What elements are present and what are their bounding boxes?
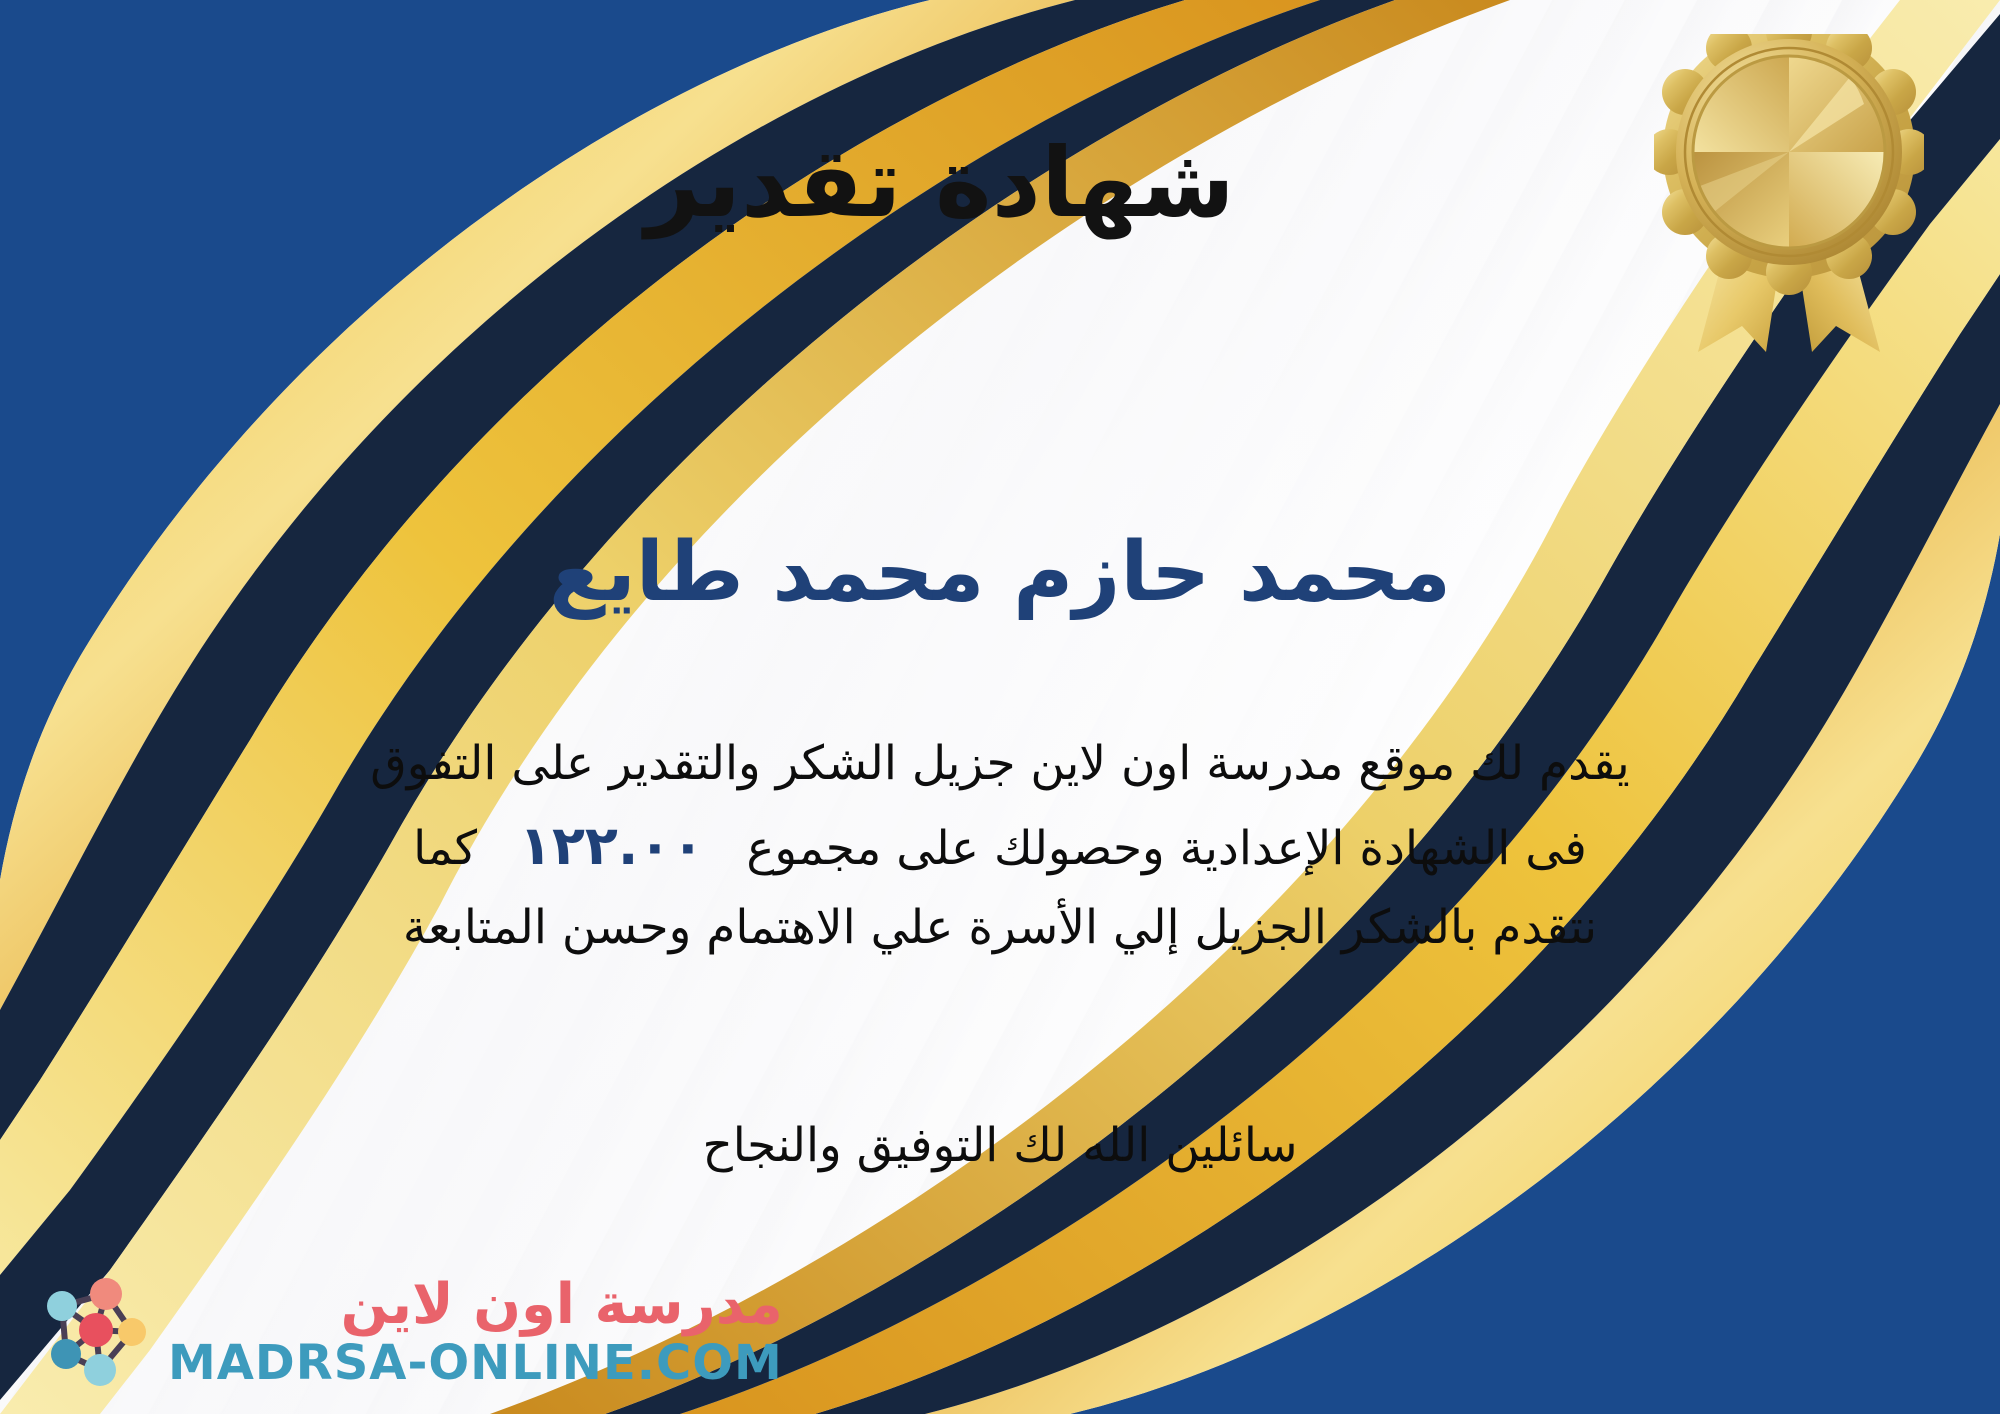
score-value: ١٢٢.٠٠ [477, 814, 746, 877]
brand-name-arabic: مدرسة اون لاين [341, 1277, 783, 1333]
body-line-2-suffix: كما [413, 821, 477, 876]
node-light-teal-top [47, 1291, 77, 1321]
body-line-2: فى الشهادة الإعدادية وحصولك على مجموع١٢٢… [48, 802, 1952, 889]
node-salmon [90, 1278, 122, 1310]
body-line-3: نتقدم بالشكر الجزيل إلي الأسرة علي الاهت… [48, 890, 1952, 966]
recipient-name: محمد حازم محمد طايع [0, 524, 2000, 622]
closing-line: سائلين الله لك التوفيق والنجاح [0, 1118, 2000, 1173]
brand-website[interactable]: MADRSA-ONLINE.COM [168, 1339, 783, 1387]
body-text: يقدم لك موقع مدرسة اون لاين جزيل الشكر و… [48, 726, 1952, 966]
node-steel-blue [51, 1339, 81, 1369]
node-amber [118, 1318, 146, 1346]
brand-text: مدرسة اون لاين MADRSA-ONLINE.COM [168, 1277, 783, 1387]
certificate-page: شهادة تقدير محمد حازم محمد طايع يقدم لك … [0, 0, 2000, 1414]
page-title: شهادة تقدير [0, 128, 2000, 238]
body-line-1: يقدم لك موقع مدرسة اون لاين جزيل الشكر و… [48, 726, 1952, 802]
node-light-teal-bottom [84, 1354, 116, 1386]
certificate-content: شهادة تقدير محمد حازم محمد طايع يقدم لك … [0, 0, 2000, 1414]
body-line-2-prefix: فى الشهادة الإعدادية وحصولك على مجموع [746, 821, 1587, 876]
brand-logo[interactable]: مدرسة اون لاين MADRSA-ONLINE.COM [34, 1272, 783, 1392]
node-red [79, 1313, 113, 1347]
network-nodes-icon [34, 1272, 154, 1392]
